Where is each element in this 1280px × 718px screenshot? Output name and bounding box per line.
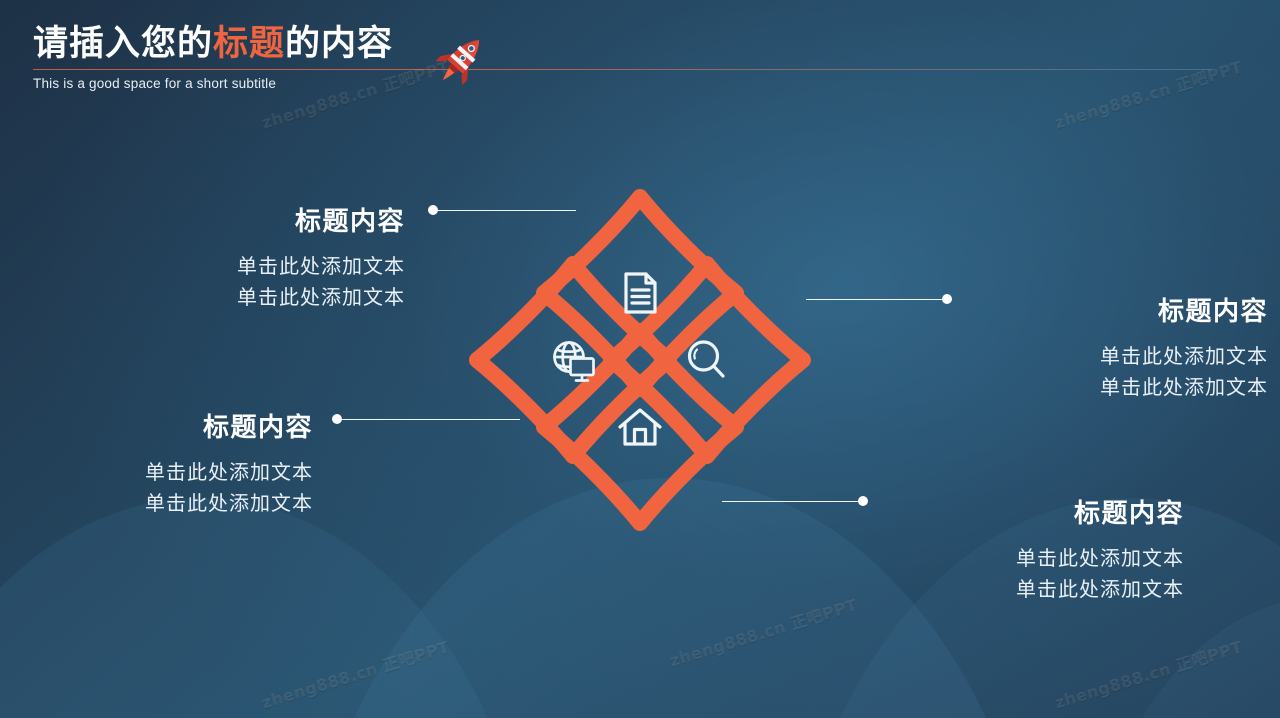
slide-canvas: 请插入您的标题的内容 This is a good space for a sh… [0,0,1280,718]
page-title: 请插入您的标题的内容 [33,24,1248,64]
block-body-line: 单击此处添加文本 [10,489,313,520]
connector-line [806,299,945,300]
block-body: 单击此处添加文本 单击此处添加文本 [35,252,405,314]
search-icon [690,342,724,376]
connector-line [722,501,861,502]
content-block-bottom-left: 标题内容 单击此处添加文本 单击此处添加文本 [10,413,313,520]
connector-line [437,210,576,211]
block-body-line: 单击此处添加文本 [35,252,405,283]
connector-top-left [428,205,576,215]
block-body-line: 单击此处添加文本 [10,458,313,489]
connector-line [341,419,520,420]
title-highlight: 标题 [213,24,285,63]
content-block-top-left: 标题内容 单击此处添加文本 单击此处添加文本 [35,207,405,314]
block-body-line: 单击此处添加文本 [884,575,1184,606]
block-body-line: 单击此处添加文本 [884,544,1184,575]
globe-monitor-icon [555,343,594,381]
content-block-top-right: 标题内容 单击此处添加文本 单击此处添加文本 [968,297,1268,404]
rocket-icon [428,27,494,93]
block-body: 单击此处添加文本 单击此处添加文本 [10,458,313,520]
home-icon [620,410,660,444]
title-divider [33,69,1211,70]
connector-top-right [806,294,952,304]
title-suffix: 的内容 [285,24,393,63]
block-body-line: 单击此处添加文本 [968,342,1268,373]
block-heading: 标题内容 [884,499,1184,528]
block-heading: 标题内容 [968,297,1268,326]
content-block-bottom-right: 标题内容 单击此处添加文本 单击此处添加文本 [884,499,1184,606]
connector-dot [942,294,952,304]
document-icon [626,274,655,312]
petal-right [611,264,803,456]
title-prefix: 请插入您的 [33,24,213,63]
connector-dot [858,496,868,506]
block-body-line: 单击此处添加文本 [35,283,405,314]
connector-bottom-right [722,496,868,506]
block-body: 单击此处添加文本 单击此处添加文本 [884,544,1184,606]
slide-header: 请插入您的标题的内容 This is a good space for a sh… [33,24,1248,91]
block-body: 单击此处添加文本 单击此处添加文本 [968,342,1268,404]
block-heading: 标题内容 [10,413,313,442]
page-subtitle: This is a good space for a short subtitl… [33,76,1248,91]
block-heading: 标题内容 [35,207,405,236]
connector-bottom-left [332,414,520,424]
block-body-line: 单击此处添加文本 [968,373,1268,404]
